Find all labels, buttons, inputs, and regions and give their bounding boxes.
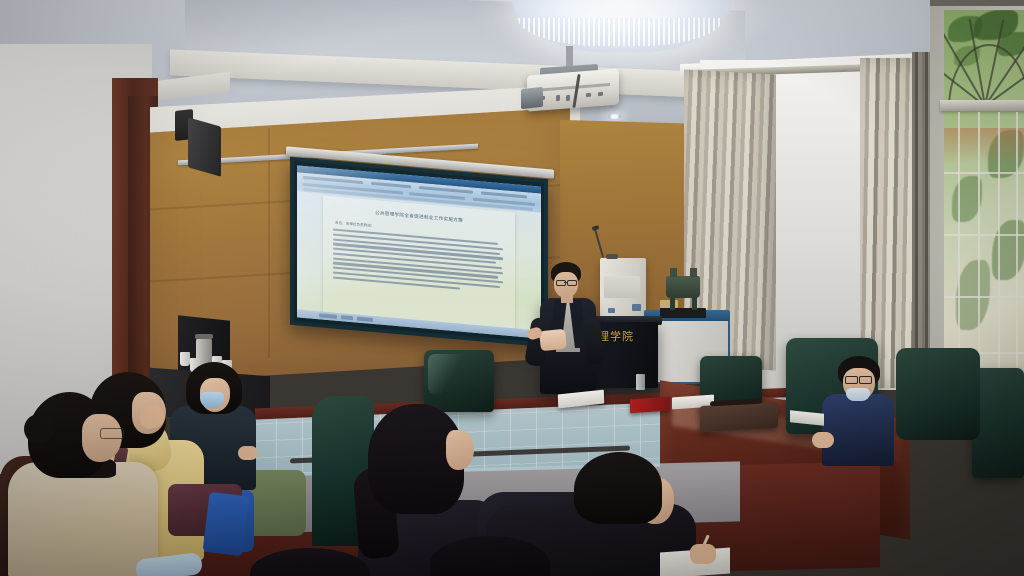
projector-button bbox=[566, 95, 570, 101]
window-transom bbox=[940, 100, 1024, 111]
window-grille-bar bbox=[978, 112, 980, 378]
water-glass bbox=[636, 374, 645, 390]
eyeglasses-icon bbox=[859, 376, 872, 384]
conference-room-photo: 公共管理学院全省促进就业工作实施方案 各位、各单位负责同志： bbox=[0, 0, 1024, 576]
vessel-leg bbox=[670, 296, 675, 310]
projector-lens bbox=[521, 87, 543, 109]
downlight-icon bbox=[608, 114, 621, 119]
projector-button bbox=[556, 95, 560, 101]
window-shade-box bbox=[930, 0, 1024, 6]
window-grille-bar bbox=[944, 172, 1024, 174]
red-folder bbox=[630, 397, 670, 414]
face-mask-icon bbox=[846, 388, 870, 401]
paper-cup bbox=[180, 352, 190, 366]
face-mask-icon bbox=[200, 392, 224, 408]
eyeglasses-icon bbox=[556, 280, 566, 286]
window-grille-bar bbox=[944, 296, 1024, 298]
eyeglasses-icon bbox=[567, 280, 577, 286]
window-grille-bar bbox=[1016, 112, 1018, 378]
screen-glare bbox=[297, 165, 541, 338]
vessel-plinth bbox=[660, 308, 706, 318]
attendee-hair bbox=[574, 452, 662, 524]
conference-chair[interactable] bbox=[896, 348, 980, 440]
window-grille-bar bbox=[958, 112, 960, 378]
podium-badge bbox=[608, 308, 615, 313]
window-grille-bar bbox=[998, 112, 1000, 378]
attendee-hand bbox=[690, 544, 716, 564]
podium-panel bbox=[604, 276, 640, 298]
vessel-plaque bbox=[660, 300, 678, 308]
vessel-leg bbox=[692, 296, 697, 310]
bronze-ding-vessel bbox=[666, 276, 700, 298]
chair-highlight bbox=[428, 354, 468, 394]
projection-screen: 公共管理学院全省促进就业工作实施方案 各位、各单位负责同志： bbox=[297, 165, 541, 338]
eyeglasses-icon bbox=[845, 376, 858, 384]
leather-bag bbox=[700, 402, 778, 432]
wall-speaker-icon bbox=[188, 117, 221, 176]
eyeglasses-icon bbox=[100, 428, 124, 439]
blue-folder bbox=[202, 492, 249, 556]
eyeglasses-bridge-icon bbox=[564, 282, 568, 283]
window-grille-bar bbox=[944, 234, 1024, 236]
vessel-handle bbox=[670, 268, 677, 277]
podium-badge bbox=[632, 304, 641, 311]
attendee-torso bbox=[822, 394, 894, 466]
microphone-base bbox=[606, 254, 618, 259]
attendee-hair-bun bbox=[24, 414, 54, 444]
attendee-hand bbox=[238, 446, 258, 460]
wood-seam bbox=[268, 128, 270, 358]
attendee-hand bbox=[812, 432, 834, 448]
vessel-handle bbox=[690, 268, 697, 277]
projector-button bbox=[598, 92, 603, 96]
attendee-torso bbox=[8, 462, 158, 576]
projector-button bbox=[586, 93, 591, 97]
thermos-lid bbox=[195, 334, 213, 339]
presenter-hands-holding-papers bbox=[539, 329, 567, 352]
